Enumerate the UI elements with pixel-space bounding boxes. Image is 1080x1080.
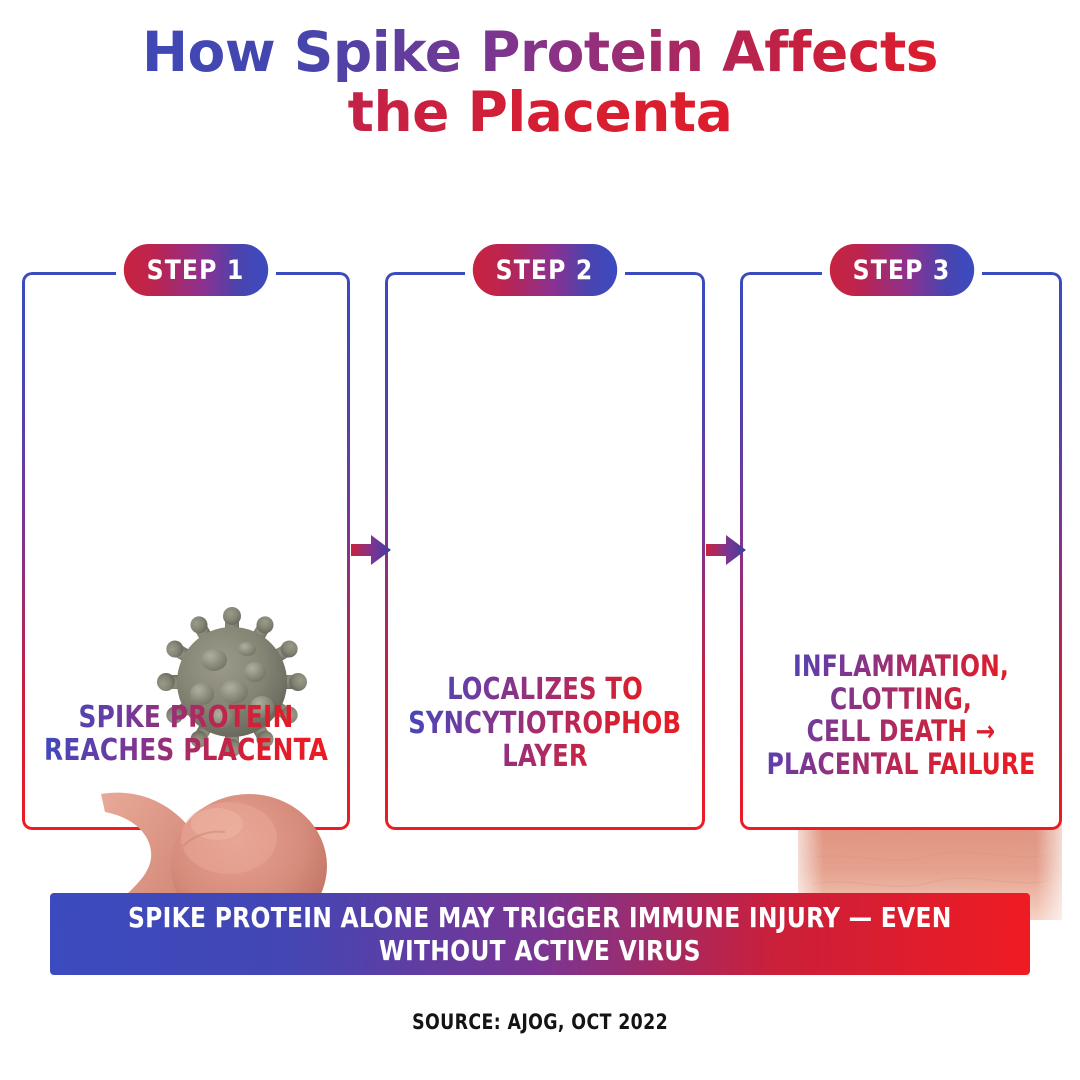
step-card-1: STEP 1: [22, 272, 350, 830]
banner-line-1: SPIKE PROTEIN ALONE MAY TRIGGER IMMUNE I…: [128, 901, 952, 934]
arrow-right-icon: [704, 533, 748, 567]
step-caption-3-line-1: INFLAMMATION, CLOTTING,: [763, 650, 1038, 715]
step-badge-2-label: STEP 2: [496, 255, 594, 286]
step-caption-1-line-2: REACHES PLACENTA: [42, 734, 329, 768]
step-badge-1-label: STEP 1: [147, 255, 245, 286]
step-caption-3: INFLAMMATION, CLOTTING, CELL DEATH → PLA…: [763, 650, 1038, 780]
title-line-1: How Spike Protein Affects: [0, 22, 1080, 82]
step-caption-2-line-2: SYNCYTIOTROPHOBLAST: [408, 707, 682, 741]
infographic-root: How Spike Protein Affects the Placenta S…: [0, 0, 1080, 1080]
step-card-3: STEP 3: [740, 272, 1062, 830]
source-credit: SOURCE: AJOG, OCT 2022: [0, 1010, 1080, 1034]
step-caption-2: LOCALIZES TO SYNCYTIOTROPHOBLAST LAYER: [408, 673, 682, 774]
banner-text: SPIKE PROTEIN ALONE MAY TRIGGER IMMUNE I…: [128, 901, 952, 967]
step-caption-3-line-3: PLACENTAL FAILURE: [763, 748, 1038, 780]
step-badge-1[interactable]: STEP 1: [124, 244, 268, 296]
step-card-2: STEP 2: [385, 272, 705, 830]
source-credit-text: SOURCE: AJOG, OCT 2022: [412, 1010, 668, 1034]
step-badge-3-label: STEP 3: [853, 255, 951, 286]
key-takeaway-banner: SPIKE PROTEIN ALONE MAY TRIGGER IMMUNE I…: [50, 893, 1030, 975]
banner-line-2: WITHOUT ACTIVE VIRUS: [128, 934, 952, 967]
step-caption-2-line-1: LOCALIZES TO: [408, 673, 682, 707]
step-badge-3[interactable]: STEP 3: [830, 244, 974, 296]
step-badge-2[interactable]: STEP 2: [473, 244, 617, 296]
page-title: How Spike Protein Affects the Placenta: [0, 22, 1080, 142]
steps-row: STEP 1: [0, 272, 1080, 830]
step-caption-2-line-3: LAYER: [408, 740, 682, 774]
step-caption-3-line-2: CELL DEATH →: [763, 715, 1038, 747]
step-caption-1-line-1: SPIKE PROTEIN: [42, 701, 329, 735]
step-caption-1: SPIKE PROTEIN REACHES PLACENTA: [42, 701, 329, 768]
arrow-right-icon: [349, 533, 393, 567]
title-line-2: the Placenta: [0, 82, 1080, 142]
